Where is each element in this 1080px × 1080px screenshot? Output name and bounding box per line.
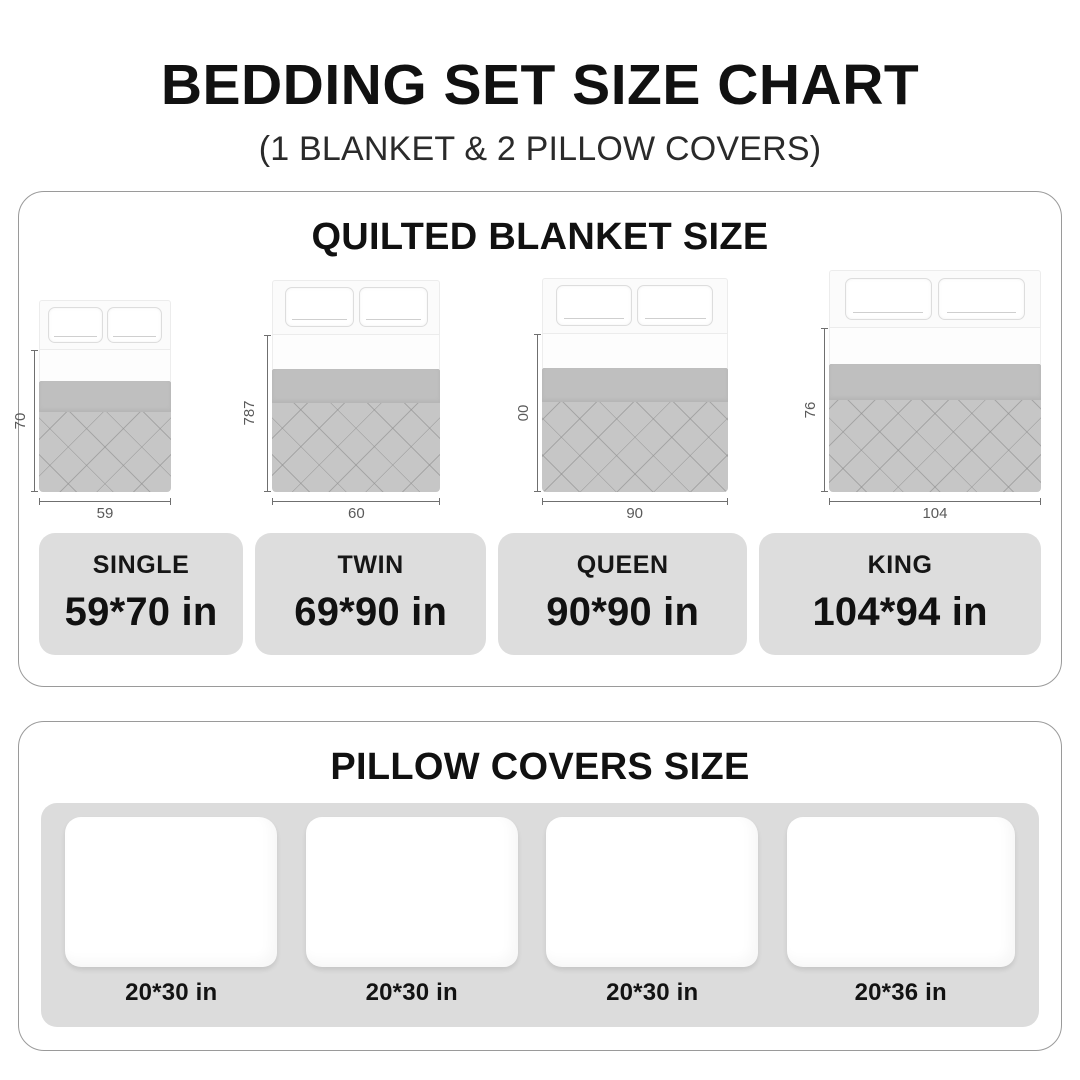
chart-header: BEDDING SET SIZE CHART (1 BLANKET & 2 PI… bbox=[18, 0, 1062, 169]
bed-pillow bbox=[359, 287, 428, 327]
size-chart-page: BEDDING SET SIZE CHART (1 BLANKET & 2 PI… bbox=[0, 0, 1080, 1080]
dimension-line-horizontal bbox=[272, 501, 440, 502]
dimension-line-vertical bbox=[824, 328, 825, 492]
size-card-dimensions: 69*90 in bbox=[263, 590, 478, 635]
bed-pillow bbox=[556, 285, 632, 326]
bed-height-dimension: 00 bbox=[516, 334, 540, 492]
size-card-name: TWIN bbox=[263, 551, 478, 580]
pillow-size-label: 20*30 in bbox=[606, 979, 698, 1007]
bed-height-dimension: 787 bbox=[246, 335, 270, 492]
bed-pillow bbox=[637, 285, 713, 326]
quilted-blanket bbox=[39, 412, 171, 492]
bed-width-dimension: 60 bbox=[272, 499, 440, 523]
bed-pillow bbox=[107, 307, 162, 344]
pillow-covers-title: PILLOW COVERS SIZE bbox=[33, 746, 1047, 789]
size-card-queen[interactable]: QUEEN90*90 in bbox=[498, 533, 747, 655]
page-title: BEDDING SET SIZE CHART bbox=[18, 56, 1062, 116]
pillow-icon bbox=[306, 817, 518, 967]
dimension-line-vertical bbox=[267, 335, 268, 492]
bed-illustration-twin: 78760 bbox=[272, 273, 440, 523]
size-card-twin[interactable]: TWIN69*90 in bbox=[255, 533, 486, 655]
pillow-size-label: 20*30 in bbox=[125, 979, 217, 1007]
bed-illustration-king: 76104 bbox=[829, 273, 1041, 523]
bed-width-dimension: 104 bbox=[829, 499, 1041, 523]
bed-height-dimension: 70 bbox=[13, 350, 37, 492]
size-card-dimensions: 59*70 in bbox=[47, 590, 235, 635]
bed-height-label: 76 bbox=[802, 402, 819, 419]
bed-graphic bbox=[829, 270, 1041, 492]
blanket-fold bbox=[542, 368, 728, 402]
size-card-name: SINGLE bbox=[47, 551, 235, 580]
bed-pillow bbox=[48, 307, 103, 344]
dimension-line-horizontal bbox=[39, 501, 171, 502]
pillow-cover-item: 20*36 in bbox=[787, 817, 1015, 1007]
dimension-line-vertical bbox=[34, 350, 35, 492]
pillow-icon bbox=[787, 817, 1015, 967]
bed-pillows bbox=[829, 270, 1041, 328]
bed-width-dimension: 90 bbox=[542, 499, 728, 523]
bed-height-label: 00 bbox=[515, 405, 532, 422]
pillow-size-label: 20*30 in bbox=[366, 979, 458, 1007]
size-card-single[interactable]: SINGLE59*70 in bbox=[39, 533, 243, 655]
blanket-size-cards-row: SINGLE59*70 inTWIN69*90 inQUEEN90*90 inK… bbox=[33, 523, 1047, 655]
size-card-name: QUEEN bbox=[506, 551, 739, 580]
bed-sheet bbox=[542, 334, 728, 368]
blanket-fold bbox=[829, 364, 1041, 400]
quilted-blanket bbox=[829, 400, 1041, 492]
bed-graphic bbox=[542, 278, 728, 492]
bed-pillows bbox=[272, 280, 440, 335]
dimension-line-horizontal bbox=[829, 501, 1041, 502]
pillow-icon bbox=[65, 817, 277, 967]
blanket-fold bbox=[272, 369, 440, 403]
pillow-size-label: 20*36 in bbox=[855, 979, 947, 1007]
pillow-cover-item: 20*30 in bbox=[546, 817, 758, 1007]
quilted-blanket-section: QUILTED BLANKET SIZE 705978760009076104 … bbox=[18, 191, 1062, 687]
dimension-line-vertical bbox=[537, 334, 538, 492]
bed-height-label: 70 bbox=[12, 413, 29, 430]
size-card-dimensions: 104*94 in bbox=[767, 590, 1033, 635]
bed-sheet bbox=[829, 328, 1041, 364]
bed-height-label: 787 bbox=[241, 401, 258, 426]
bed-illustration-single: 7059 bbox=[39, 273, 171, 523]
blanket-fold bbox=[39, 381, 171, 412]
quilted-blanket-title: QUILTED BLANKET SIZE bbox=[33, 216, 1047, 259]
bed-pillows bbox=[39, 300, 171, 350]
pillow-cover-item: 20*30 in bbox=[306, 817, 518, 1007]
pillow-illustrations-panel: 20*30 in20*30 in20*30 in20*36 in bbox=[41, 803, 1039, 1027]
pillow-icon bbox=[546, 817, 758, 967]
size-card-name: KING bbox=[767, 551, 1033, 580]
pillow-covers-section: PILLOW COVERS SIZE 20*30 in20*30 in20*30… bbox=[18, 721, 1062, 1051]
page-subtitle: (1 BLANKET & 2 PILLOW COVERS) bbox=[18, 130, 1062, 169]
bed-width-dimension: 59 bbox=[39, 499, 171, 523]
bed-graphic bbox=[272, 280, 440, 492]
bed-figure: 76104 bbox=[829, 270, 1041, 523]
bed-figure: 78760 bbox=[272, 280, 440, 523]
bed-pillows bbox=[542, 278, 728, 334]
size-card-dimensions: 90*90 in bbox=[506, 590, 739, 635]
bed-pillow bbox=[938, 278, 1025, 320]
quilted-blanket bbox=[542, 402, 728, 492]
pillow-cover-item: 20*30 in bbox=[65, 817, 277, 1007]
bed-sheet bbox=[272, 335, 440, 369]
bed-illustration-queen: 0090 bbox=[542, 273, 728, 523]
size-card-king[interactable]: KING104*94 in bbox=[759, 533, 1041, 655]
bed-width-label: 104 bbox=[829, 505, 1041, 522]
bed-sheet bbox=[39, 350, 171, 381]
bed-pillow bbox=[845, 278, 932, 320]
bed-width-label: 60 bbox=[272, 505, 440, 522]
bed-figure: 7059 bbox=[39, 300, 171, 523]
bed-width-label: 59 bbox=[39, 505, 171, 522]
bed-width-label: 90 bbox=[542, 505, 728, 522]
bed-illustrations-row: 705978760009076104 bbox=[33, 259, 1047, 523]
quilted-blanket bbox=[272, 403, 440, 492]
bed-figure: 0090 bbox=[542, 278, 728, 523]
bed-pillow bbox=[285, 287, 354, 327]
dimension-line-horizontal bbox=[542, 501, 728, 502]
bed-graphic bbox=[39, 300, 171, 492]
bed-height-dimension: 76 bbox=[803, 328, 827, 492]
